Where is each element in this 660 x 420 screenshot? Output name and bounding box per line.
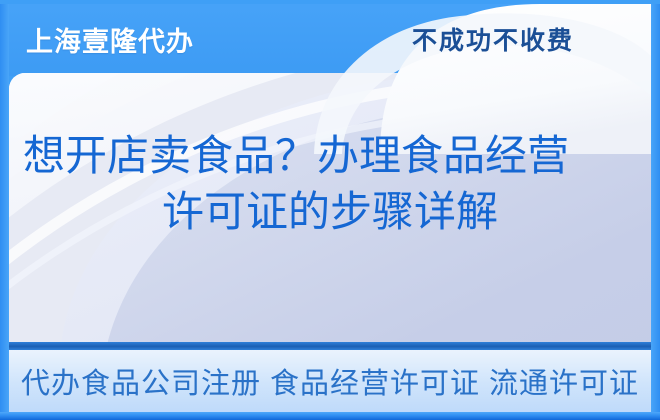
headline-line-2: 许可证的步骤详解 — [9, 184, 651, 240]
headline-line-1: 想开店卖食品？办理食品经营 — [9, 128, 651, 184]
frame-border-right — [651, 0, 660, 420]
keyword-list: 代办食品公司注册 食品经营许可证 流通许可证 — [21, 360, 639, 402]
keyword-bar: 代办食品公司注册 食品经营许可证 流通许可证 — [9, 350, 651, 412]
slogan-text: 不成功不收费 — [412, 21, 574, 57]
frame-border-left — [0, 0, 9, 420]
frame-border-bottom — [0, 412, 660, 420]
headline: 想开店卖食品？办理食品经营 许可证的步骤详解 — [9, 128, 651, 241]
promo-banner: 上海壹隆代办 不成功不收费 想开店卖食品？办理食品经营 许可证的步骤详解 代办食… — [0, 0, 660, 420]
brand-title: 上海壹隆代办 — [26, 20, 194, 59]
frame-border-top — [0, 0, 660, 4]
keyword-bar-divider — [9, 342, 651, 350]
